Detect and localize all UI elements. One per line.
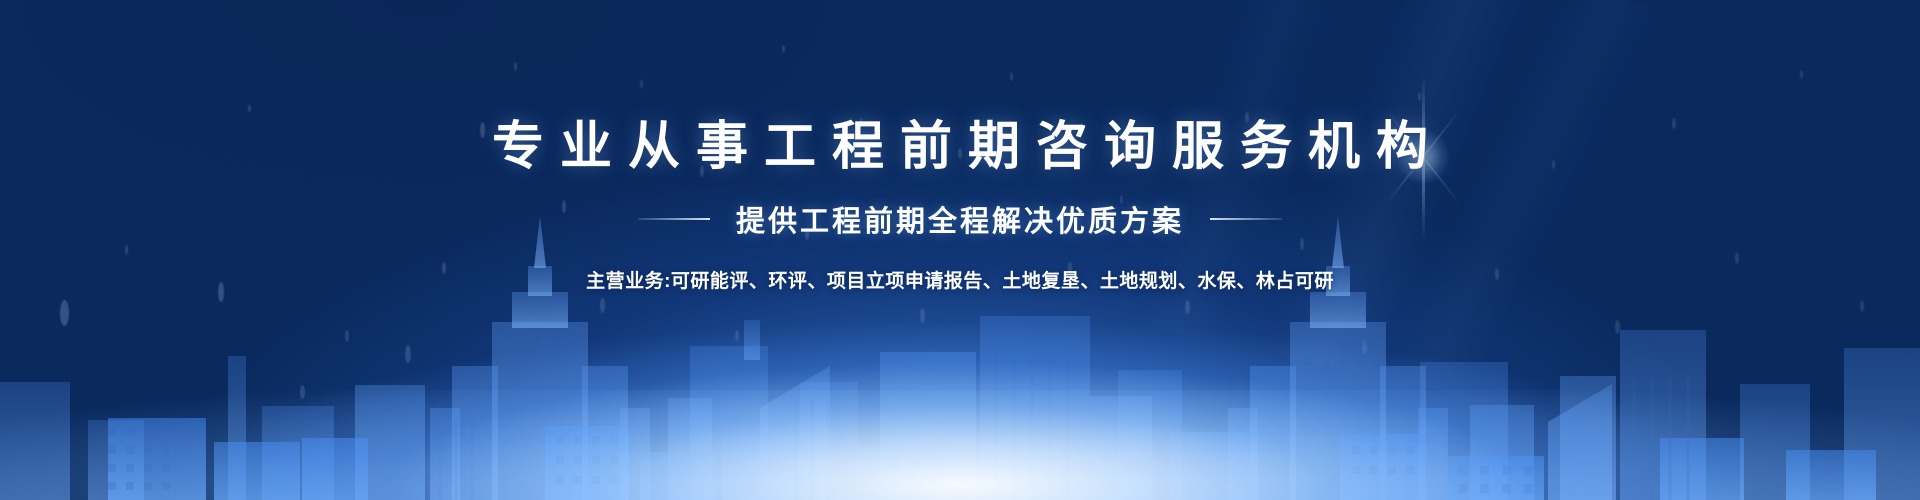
divider-dash-left-icon	[638, 218, 710, 220]
banner-headline: 专业从事工程前期咨询服务机构	[0, 0, 1920, 176]
banner-subline: 提供工程前期全程解决优质方案	[736, 198, 1184, 240]
banner-subline-row: 提供工程前期全程解决优质方案	[0, 198, 1920, 240]
hero-banner: 专业从事工程前期咨询服务机构 提供工程前期全程解决优质方案 主营业务:可研能评、…	[0, 0, 1920, 500]
banner-content: 专业从事工程前期咨询服务机构 提供工程前期全程解决优质方案 主营业务:可研能评、…	[0, 0, 1920, 293]
banner-tagline: 主营业务:可研能评、环评、项目立项申请报告、土地复垦、土地规划、水保、林占可研	[0, 266, 1920, 293]
divider-dash-right-icon	[1210, 218, 1282, 220]
